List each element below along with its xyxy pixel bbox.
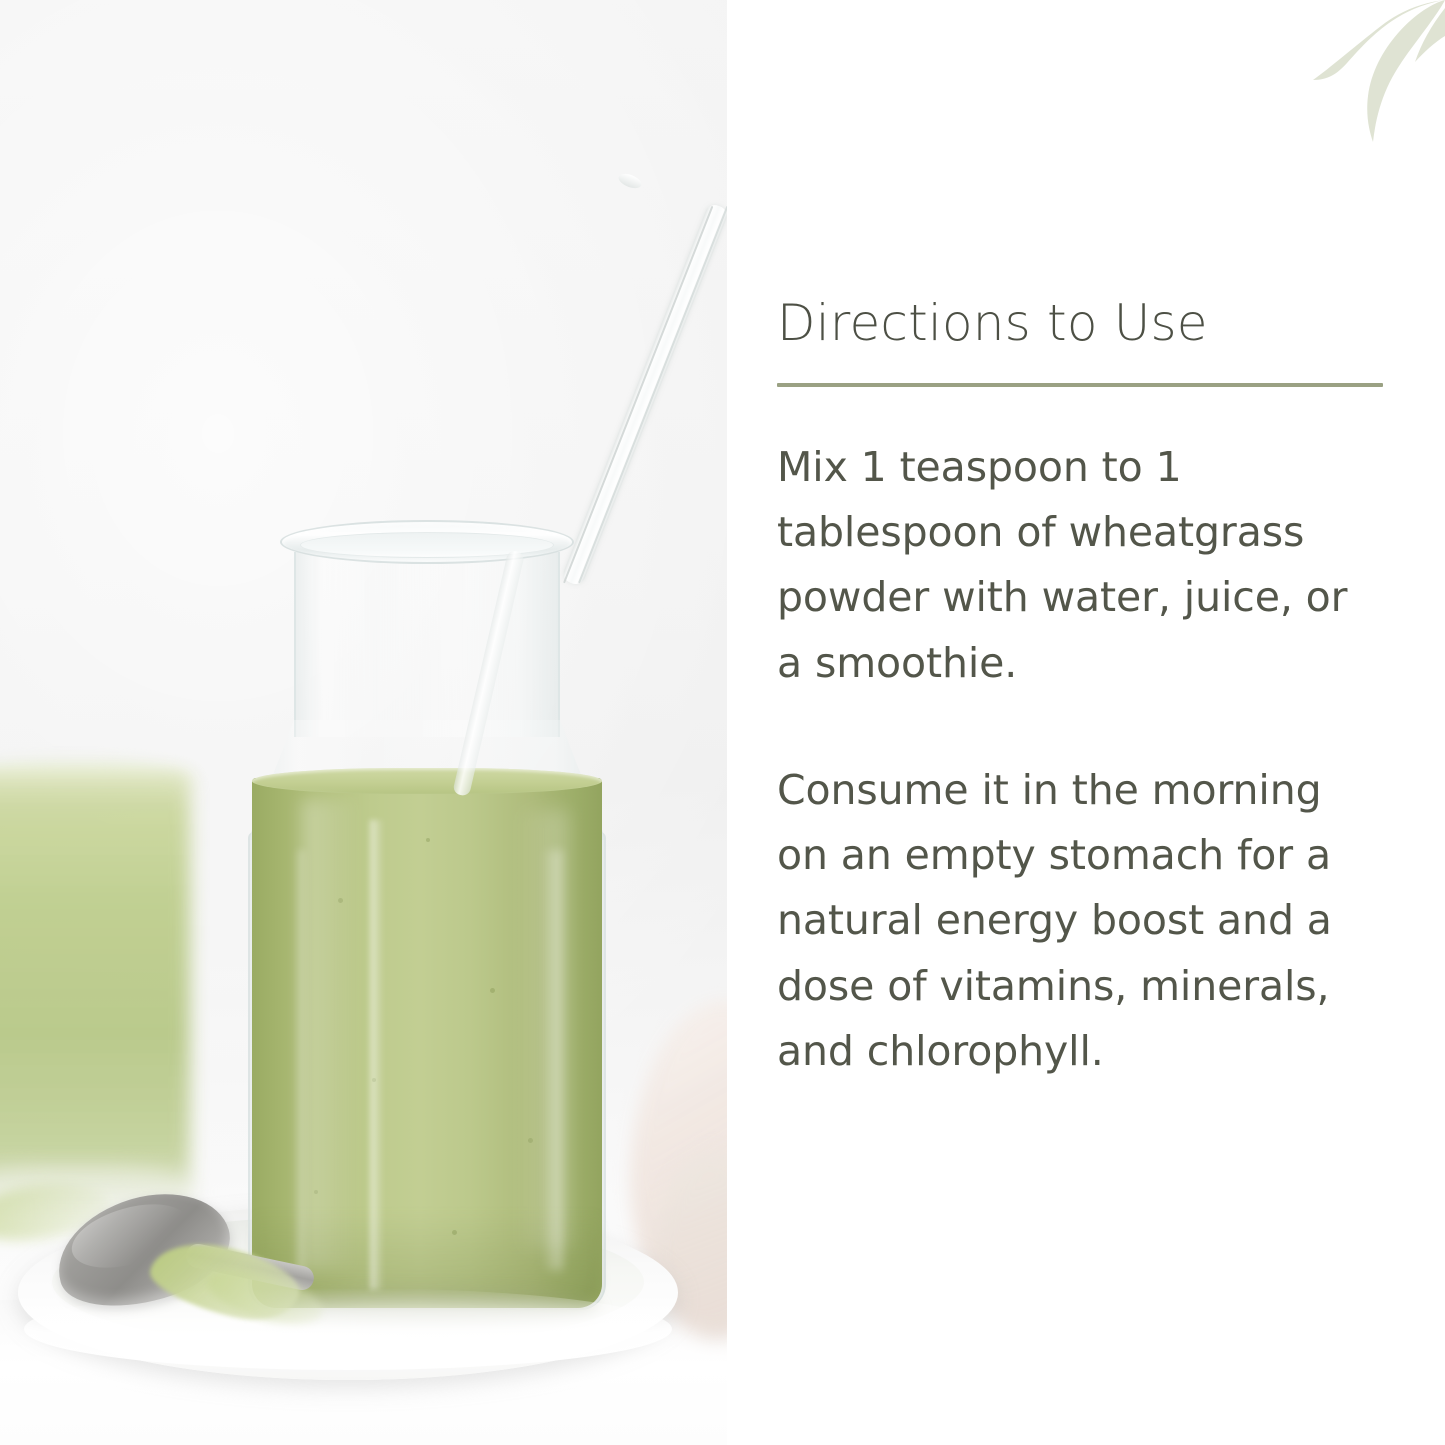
directions-body: Mix 1 teaspoon to 1 tablespoon of wheatg…	[777, 435, 1385, 1084]
bottle-neck	[294, 552, 560, 737]
background-glass	[0, 775, 190, 1195]
glass-bottle	[242, 520, 612, 1315]
direction-paragraph-2: Consume it in the morning on an empty st…	[777, 758, 1385, 1084]
title-divider	[777, 383, 1383, 387]
smoothie-sheen-left	[302, 800, 360, 1270]
bottle-highlight-right	[542, 850, 562, 1270]
bottle-highlight-center	[370, 820, 384, 1290]
direction-paragraph-1: Mix 1 teaspoon to 1 tablespoon of wheatg…	[777, 435, 1385, 696]
wheatgrass-leaf-icon	[1235, 0, 1445, 170]
product-directions-card: Directions to Use Mix 1 teaspoon to 1 ta…	[0, 0, 1445, 1445]
bottle-highlight-left	[298, 850, 308, 1280]
text-column: Directions to Use Mix 1 teaspoon to 1 ta…	[777, 296, 1385, 1084]
smoothie-surface	[252, 768, 602, 794]
page-title: Directions to Use	[777, 296, 1385, 350]
product-photo	[0, 0, 727, 1445]
directions-panel: Directions to Use Mix 1 teaspoon to 1 ta…	[727, 0, 1445, 1445]
